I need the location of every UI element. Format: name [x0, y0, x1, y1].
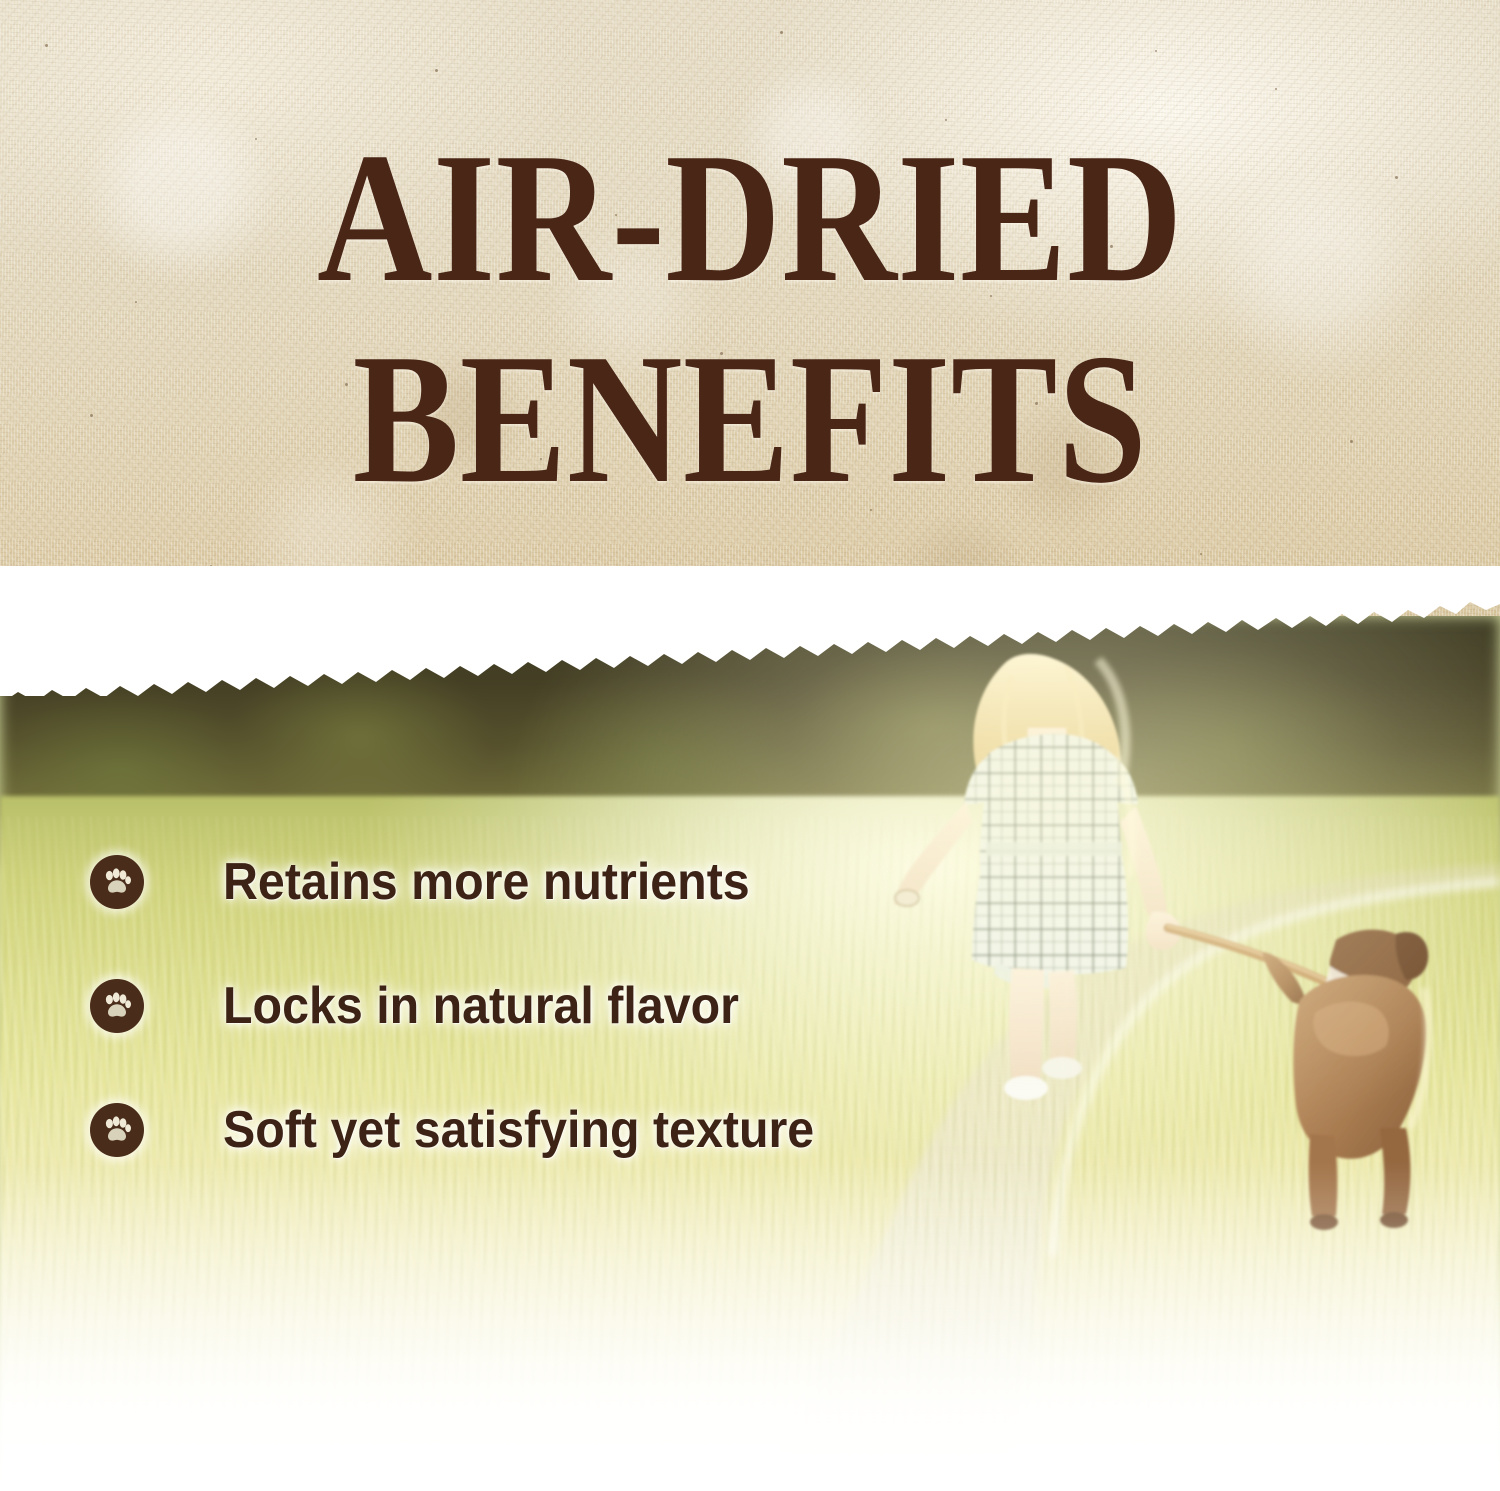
paw-icon — [90, 1103, 144, 1157]
page-title: AIR-DRIED BENEFITS — [0, 129, 1500, 508]
list-item-label: Retains more nutrients — [223, 856, 750, 908]
marketing-infographic: AIR-DRIED BENEFITS — [0, 0, 1500, 1491]
page-title-line-1: AIR-DRIED — [105, 129, 1395, 308]
photo-bottom-fade — [0, 1161, 1500, 1491]
list-item-label: Locks in natural flavor — [223, 980, 739, 1032]
kraft-paper-panel: AIR-DRIED BENEFITS — [0, 0, 1500, 628]
benefits-list: Retains more nutrients Locks in natural … — [90, 852, 1090, 1160]
page-title-line-2: BENEFITS — [105, 330, 1395, 509]
list-item: Locks in natural flavor — [90, 976, 1090, 1036]
list-item: Soft yet satisfying texture — [90, 1100, 1090, 1160]
paw-icon — [90, 855, 144, 909]
list-item: Retains more nutrients — [90, 852, 1090, 912]
paw-icon — [90, 979, 144, 1033]
list-item-label: Soft yet satisfying texture — [223, 1104, 814, 1156]
